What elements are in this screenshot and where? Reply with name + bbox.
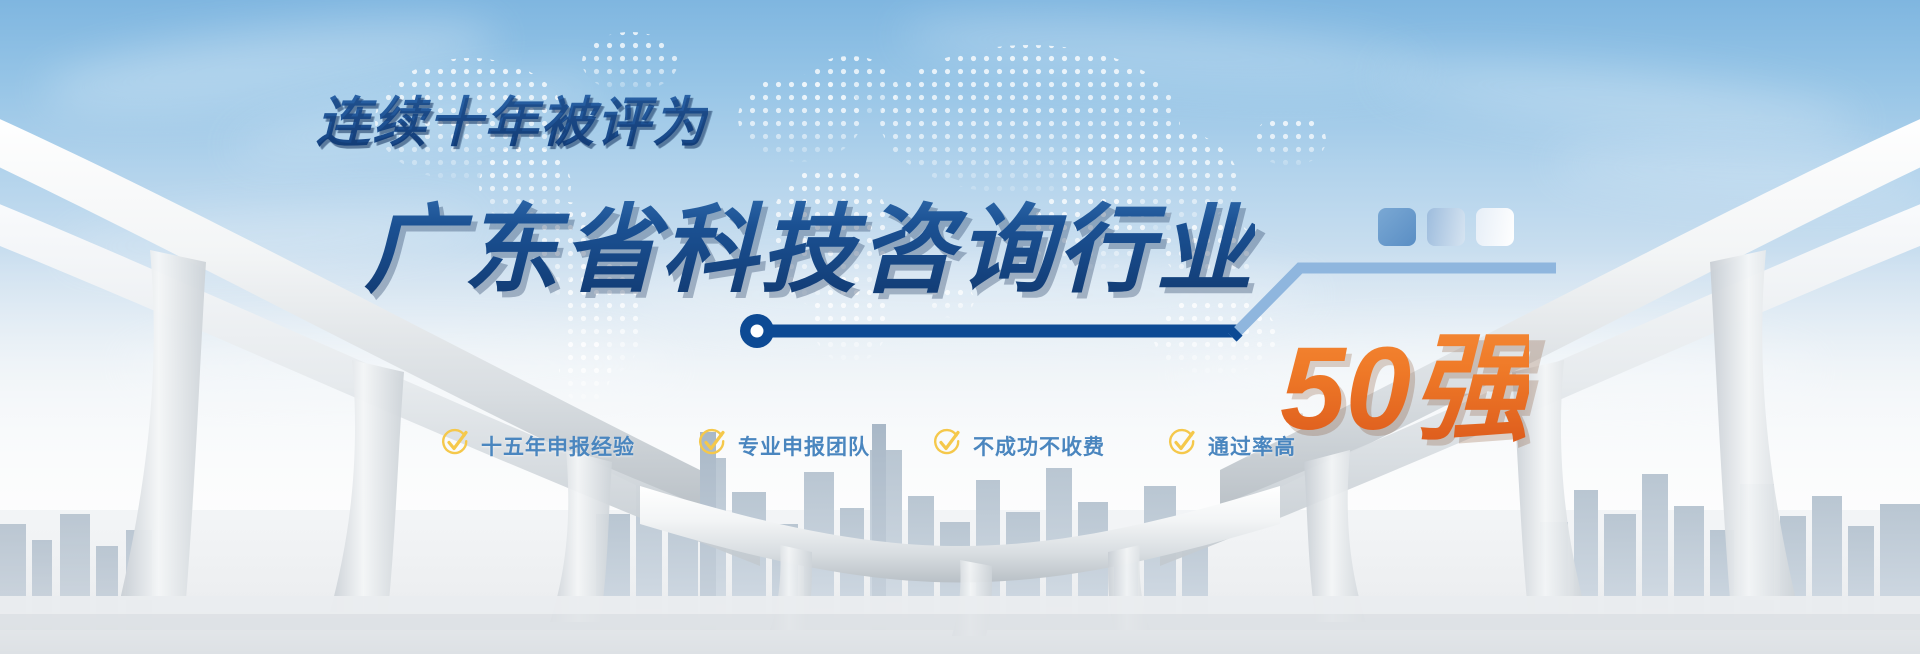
feature-badge-label: 不成功不收费 — [973, 431, 1105, 461]
square-white — [1476, 208, 1514, 246]
connector-graphic — [0, 0, 1920, 654]
feature-badge-label: 通过率高 — [1208, 431, 1296, 461]
feature-badge-list: 十五年申报经验 专业申报团队 不成功不收费 — [440, 428, 1296, 463]
check-circle-icon — [697, 428, 727, 463]
square-solid-blue — [1378, 208, 1416, 246]
feature-badge-label: 专业申报团队 — [738, 431, 870, 461]
feature-badge: 十五年申报经验 — [440, 428, 635, 463]
check-circle-icon — [932, 428, 962, 463]
feature-badge: 通过率高 — [1167, 428, 1296, 463]
decor-squares — [1378, 208, 1514, 246]
feature-badge: 专业申报团队 — [697, 428, 870, 463]
promo-banner: 连续十年被评为 连续十年被评为 广东省科技咨询行业 广东省科技咨询行业 50强 … — [0, 0, 1920, 654]
square-fade-blue — [1427, 208, 1465, 246]
check-circle-icon — [440, 428, 470, 463]
feature-badge-label: 十五年申报经验 — [481, 431, 635, 461]
check-circle-icon — [1167, 428, 1197, 463]
feature-badge: 不成功不收费 — [932, 428, 1105, 463]
